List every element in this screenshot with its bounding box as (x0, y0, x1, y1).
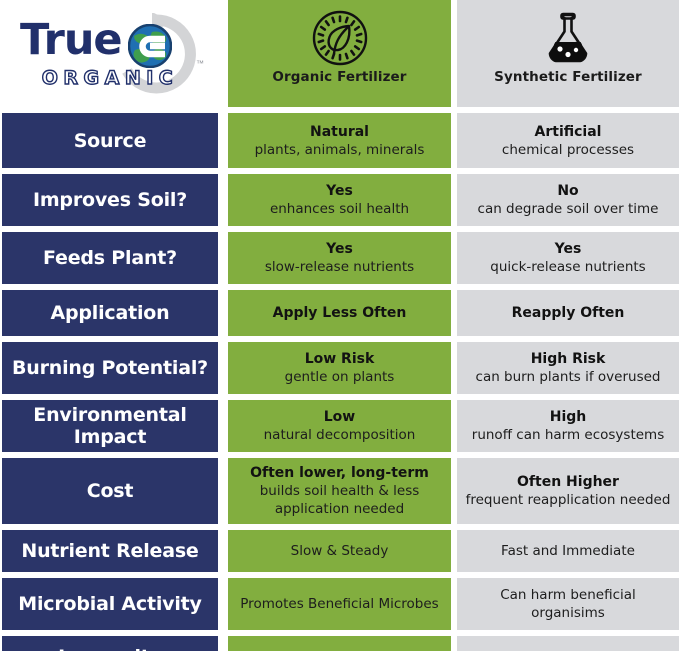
globe-icon (128, 24, 172, 68)
column-header-organic: Organic Fertilizer (228, 0, 451, 107)
organic-value-secondary: slow-release nutrients (265, 258, 414, 276)
organic-value-cell: Naturalplants, animals, minerals (228, 113, 451, 168)
organic-value-secondary: plants, animals, minerals (255, 141, 425, 159)
synthetic-value-primary: Reapply Often (512, 304, 625, 322)
row-label-cell: Longevity (2, 636, 218, 651)
flask-icon (539, 7, 597, 69)
table-row: Burning Potential?Low Riskgentle on plan… (0, 342, 679, 394)
table-row: Nutrient ReleaseSlow & SteadyFast and Im… (0, 530, 679, 572)
synthetic-value-secondary: quick-release nutrients (490, 258, 645, 276)
synthetic-value-cell: Short-term plant boost (457, 636, 679, 651)
row-label: Microbial Activity (18, 593, 202, 615)
brand-name-true: True (20, 19, 122, 62)
synthetic-value-primary: No (557, 182, 578, 200)
organic-value-primary: Often lower, long-term (250, 464, 429, 482)
organic-value-secondary: enhances soil health (270, 200, 409, 218)
organic-value-primary: Low (324, 408, 355, 426)
row-label: Source (74, 130, 147, 152)
organic-value-cell: Long-lasting soil benefits (228, 636, 451, 651)
column-header-synthetic-label: Synthetic Fertilizer (494, 69, 642, 91)
organic-value-cell: Yesslow-release nutrients (228, 232, 451, 284)
synthetic-value-cell: High Riskcan burn plants if overused (457, 342, 679, 394)
synthetic-value-secondary: can burn plants if overused (476, 368, 661, 386)
row-label-cell: Nutrient Release (2, 530, 218, 572)
column-header-organic-label: Organic Fertilizer (272, 69, 406, 91)
synthetic-value-primary: Artificial (535, 123, 602, 141)
organic-value-cell: Lownatural decomposition (228, 400, 451, 452)
synthetic-value-secondary: frequent reapplication needed (466, 491, 671, 509)
row-label: Burning Potential? (12, 357, 208, 379)
row-label: Improves Soil? (33, 189, 187, 211)
synthetic-value-primary: High Risk (531, 350, 606, 368)
row-label-cell: Cost (2, 458, 218, 524)
organic-value-secondary: Slow & Steady (291, 542, 389, 560)
synthetic-value-secondary: runoff can harm ecosystems (472, 426, 664, 444)
synthetic-value-cell: Highrunoff can harm ecosystems (457, 400, 679, 452)
brand-name-organic: ORGANIC (16, 67, 204, 89)
table-row: Environmental ImpactLownatural decomposi… (0, 400, 679, 452)
synthetic-value-primary: Often Higher (517, 473, 619, 491)
synthetic-value-cell: Artificialchemical processes (457, 113, 679, 168)
synthetic-value-cell: Yesquick-release nutrients (457, 232, 679, 284)
synthetic-value-cell: Nocan degrade soil over time (457, 174, 679, 226)
column-header-synthetic: Synthetic Fertilizer (457, 0, 679, 107)
table-row: LongevityLong-lasting soil benefitsShort… (0, 636, 679, 651)
synthetic-value-primary: Yes (555, 240, 582, 258)
synthetic-value-secondary: can degrade soil over time (478, 200, 659, 218)
synthetic-value-cell: Can harm beneficial organisims (457, 578, 679, 630)
row-label-cell: Environmental Impact (2, 400, 218, 452)
organic-value-cell: Promotes Beneficial Microbes (228, 578, 451, 630)
row-label: Nutrient Release (21, 540, 198, 562)
organic-value-secondary: gentle on plants (285, 368, 395, 386)
row-label-cell: Microbial Activity (2, 578, 218, 630)
organic-value-secondary: builds soil health & less application ne… (235, 482, 444, 518)
table-row: Microbial ActivityPromotes Beneficial Mi… (0, 578, 679, 630)
trademark-symbol: ™ (196, 59, 204, 68)
synthetic-value-secondary: Fast and Immediate (501, 542, 635, 560)
row-label-cell: Burning Potential? (2, 342, 218, 394)
row-label-cell: Application (2, 290, 218, 336)
comparison-infographic: True ORGANIC ™ (0, 0, 679, 651)
row-label: Feeds Plant? (43, 247, 177, 269)
table-row: CostOften lower, long-termbuilds soil he… (0, 458, 679, 524)
organic-value-cell: Often lower, long-termbuilds soil health… (228, 458, 451, 524)
organic-value-primary: Low Risk (305, 350, 375, 368)
table-row: SourceNaturalplants, animals, mineralsAr… (0, 113, 679, 168)
organic-value-cell: Apply Less Often (228, 290, 451, 336)
row-label-cell: Improves Soil? (2, 174, 218, 226)
organic-value-primary: Yes (326, 240, 353, 258)
row-label: Cost (87, 480, 134, 502)
organic-value-cell: Yesenhances soil health (228, 174, 451, 226)
synthetic-value-cell: Often Higherfrequent reapplication neede… (457, 458, 679, 524)
organic-value-cell: Low Riskgentle on plants (228, 342, 451, 394)
organic-value-primary: Yes (326, 182, 353, 200)
synthetic-value-cell: Reapply Often (457, 290, 679, 336)
table-row: ApplicationApply Less OftenReapply Often (0, 290, 679, 336)
brand-logo: True ORGANIC ™ (2, 0, 218, 107)
synthetic-value-cell: Fast and Immediate (457, 530, 679, 572)
row-label-cell: Source (2, 113, 218, 168)
synthetic-value-secondary: chemical processes (502, 141, 634, 159)
row-label: Longevity (58, 646, 162, 651)
table-row: Improves Soil?Yesenhances soil healthNoc… (0, 174, 679, 226)
synthetic-value-secondary: Can harm beneficial organisims (464, 586, 672, 622)
synthetic-value-primary: High (550, 408, 587, 426)
table-row: Feeds Plant?Yesslow-release nutrientsYes… (0, 232, 679, 284)
row-label-cell: Feeds Plant? (2, 232, 218, 284)
table-body: SourceNaturalplants, animals, mineralsAr… (0, 113, 679, 651)
organic-value-cell: Slow & Steady (228, 530, 451, 572)
row-label: Environmental Impact (8, 404, 212, 448)
organic-value-secondary: natural decomposition (264, 426, 416, 444)
organic-value-secondary: Promotes Beneficial Microbes (240, 595, 438, 613)
organic-value-primary: Apply Less Often (273, 304, 407, 322)
table-header-row: True ORGANIC ™ (0, 0, 679, 107)
leaf-seal-icon (311, 7, 369, 69)
row-label: Application (51, 302, 170, 324)
organic-value-primary: Natural (310, 123, 369, 141)
